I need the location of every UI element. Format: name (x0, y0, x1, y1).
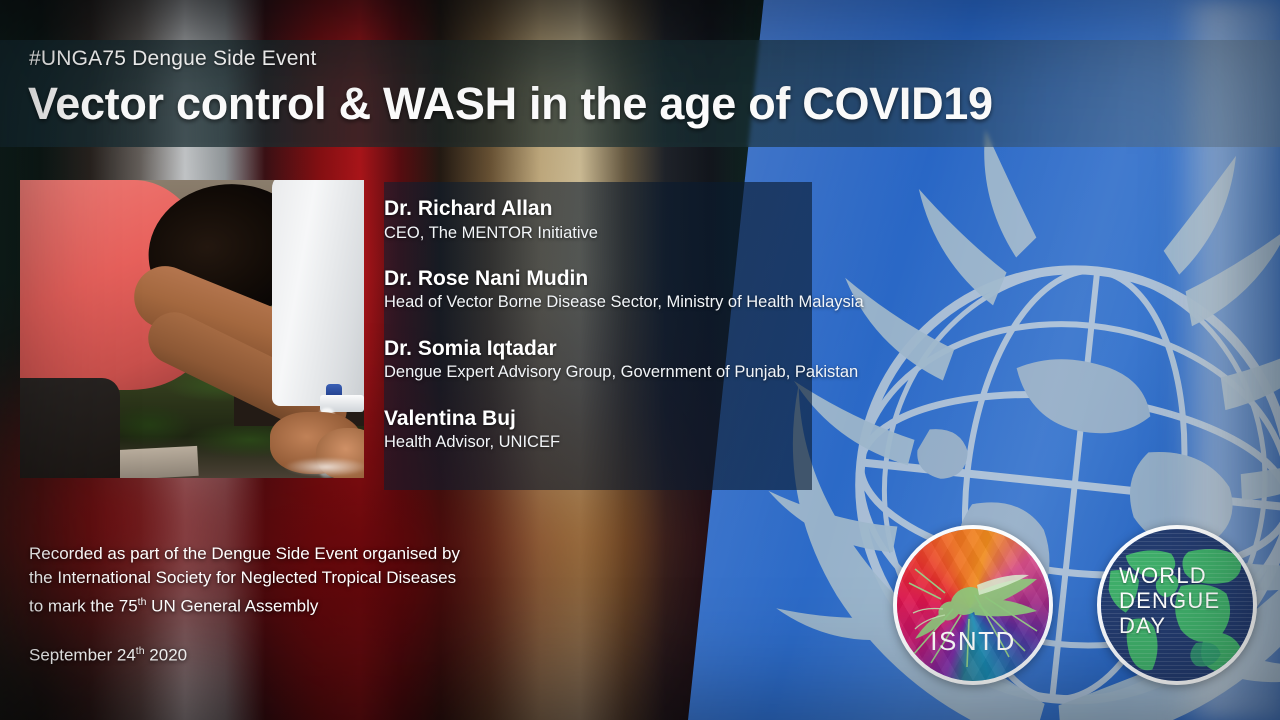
caption-line-1: Recorded as part of the Dengue Side Even… (29, 542, 649, 566)
event-hashtag-label: #UNGA75 Dengue Side Event (29, 47, 317, 71)
photo-water-splash (266, 452, 364, 478)
world-dengue-day-label: WORLD DENGUE DAY (1119, 563, 1220, 638)
wdd-line-3: DAY (1119, 613, 1220, 638)
photo-water-container: BERSAMA WARGA PERANGI COVID-19 6 LANGKAH… (272, 180, 364, 406)
wdd-line-2: DENGUE (1119, 588, 1220, 613)
recording-caption: Recorded as part of the Dengue Side Even… (29, 542, 649, 619)
photo-person-shorts (20, 378, 120, 478)
handwashing-photo: BERSAMA WARGA PERANGI COVID-19 6 LANGKAH… (20, 180, 364, 478)
date-ordinal-suffix: th (136, 645, 145, 657)
world-dengue-day-logo[interactable]: WORLD DENGUE DAY (1097, 525, 1257, 685)
caption-line-3a: to mark the 75 (29, 597, 138, 616)
isntd-label: ISNTD (897, 626, 1049, 657)
date-prefix: September 24 (29, 646, 136, 665)
caption-line-3b: UN General Assembly (146, 597, 318, 616)
page-title: Vector control & WASH in the age of COVI… (28, 78, 993, 130)
caption-line-3: to mark the 75th UN General Assembly (29, 590, 649, 619)
caption-line-2: the International Society for Neglected … (29, 566, 649, 590)
date-year: 2020 (145, 646, 188, 665)
wdd-line-1: WORLD (1119, 563, 1220, 588)
isntd-logo[interactable]: ISNTD (893, 525, 1053, 685)
event-date: September 24th 2020 (29, 645, 187, 666)
speaker-panel (384, 182, 812, 490)
slide-canvas: #UNGA75 Dengue Side Event Vector control… (0, 0, 1280, 720)
